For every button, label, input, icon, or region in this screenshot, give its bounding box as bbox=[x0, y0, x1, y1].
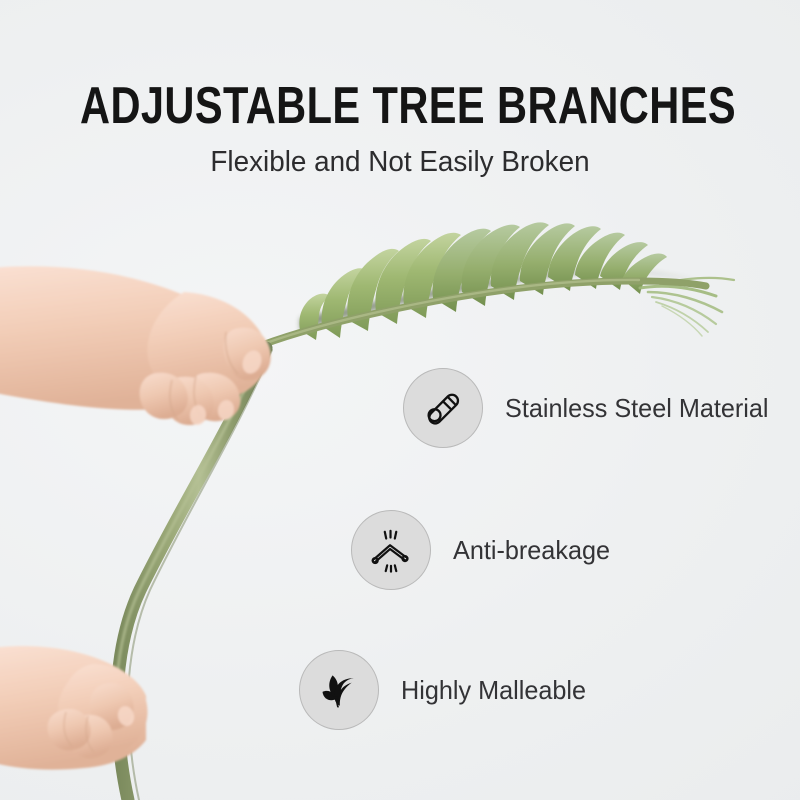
bent-rod-stress-icon bbox=[351, 510, 431, 590]
feature-item-highly-malleable: Highly Malleable bbox=[299, 650, 592, 730]
product-feature-banner: ADJUSTABLE TREE BRANCHES Flexible and No… bbox=[0, 0, 800, 800]
feature-label: Stainless Steel Material bbox=[505, 393, 769, 423]
feature-label: Anti-breakage bbox=[453, 535, 610, 565]
page-title: ADJUSTABLE TREE BRANCHES bbox=[80, 78, 720, 134]
feature-item-stainless-steel: Stainless Steel Material bbox=[403, 368, 777, 448]
feature-label: Highly Malleable bbox=[401, 675, 586, 705]
feature-item-anti-breakage: Anti-breakage bbox=[351, 510, 615, 590]
leaf-sprout-icon bbox=[299, 650, 379, 730]
metal-rod-icon bbox=[403, 368, 483, 448]
page-subtitle: Flexible and Not Easily Broken bbox=[16, 145, 784, 179]
